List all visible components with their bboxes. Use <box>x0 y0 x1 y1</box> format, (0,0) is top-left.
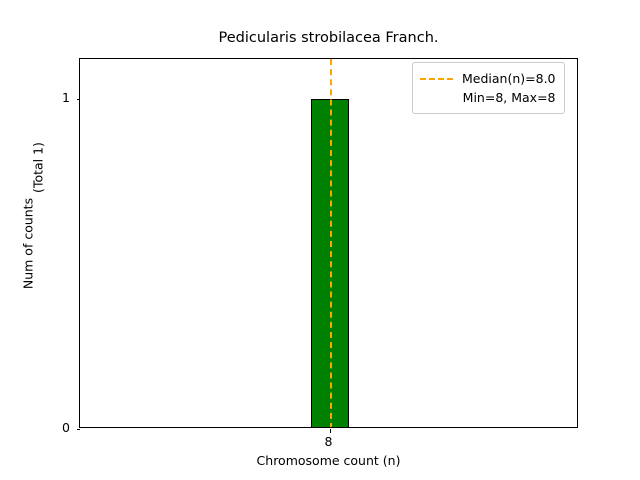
y-tick-mark <box>77 429 81 430</box>
legend-item: Min=8, Max=8 <box>420 88 556 107</box>
plot-canvas <box>80 59 577 427</box>
x-tick-label: 8 <box>325 434 333 449</box>
x-axis-label: Chromosome count (n) <box>79 453 578 468</box>
y-axis-label-total: (Total 1) <box>31 108 46 228</box>
chart-figure: Pedicularis strobilacea Franch. Num of c… <box>0 0 640 480</box>
median-line <box>330 59 332 427</box>
x-tick-mark <box>330 429 331 433</box>
legend-item: Median(n)=8.0 <box>420 69 556 88</box>
y-tick-label: 0 <box>39 420 70 435</box>
y-tick-label: 1 <box>39 90 70 105</box>
legend-label: Min=8, Max=8 <box>462 90 556 105</box>
legend-label: Median(n)=8.0 <box>462 71 556 86</box>
chart-legend: Median(n)=8.0Min=8, Max=8 <box>412 62 565 114</box>
chart-title: Pedicularis strobilacea Franch. <box>79 30 578 46</box>
y-tick-mark <box>77 99 81 100</box>
legend-dashed-line-icon <box>420 78 453 80</box>
